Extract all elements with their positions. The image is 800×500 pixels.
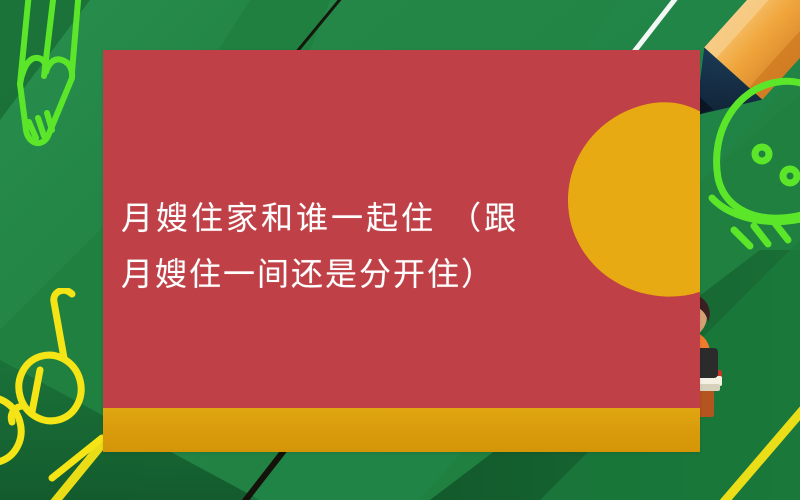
title-line-2: 月嫂住一间还是分开住） [121,246,686,302]
title-line-1: 月嫂住家和谁一起住 （跟 [121,190,686,246]
title-card: 月嫂住家和谁一起住 （跟 月嫂住一间还是分开住） [103,50,700,452]
card-title: 月嫂住家和谁一起住 （跟 月嫂住一间还是分开住） [103,190,700,302]
poster-canvas: 月嫂住家和谁一起住 （跟 月嫂住一间还是分开住） [0,0,800,500]
card-yellow-band [103,408,700,452]
